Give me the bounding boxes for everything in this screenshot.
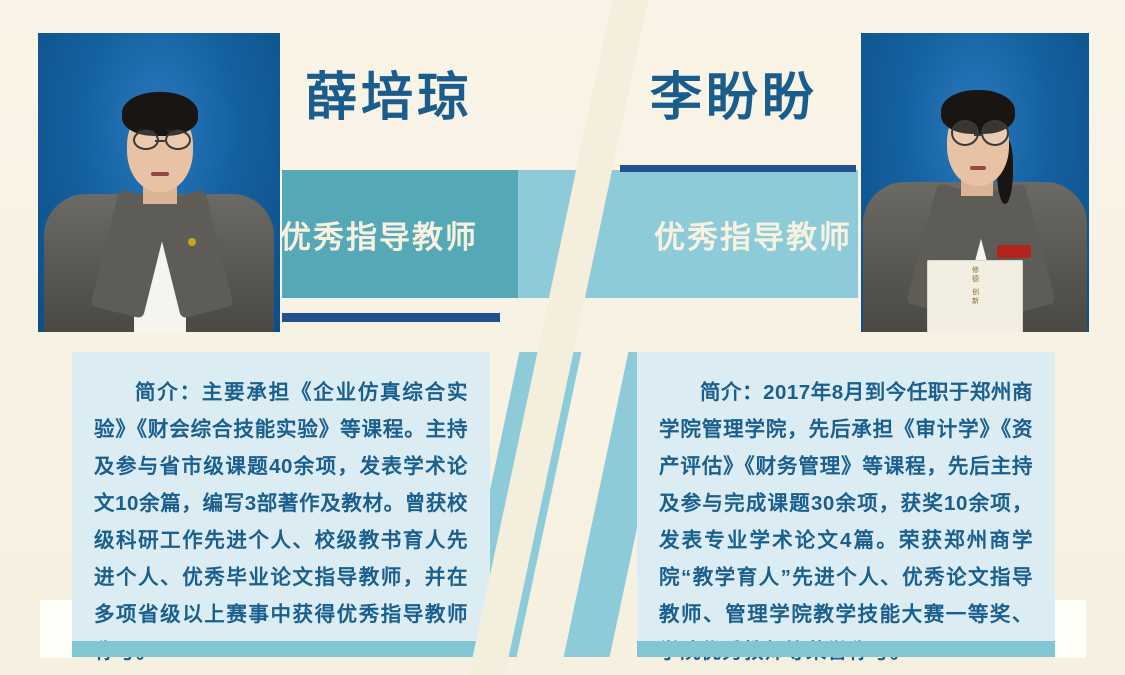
bio-text-right: 简介：2017年8月到今任职于郑州商学院管理学院，先后承担《审计学》《资产评估》…: [637, 352, 1055, 670]
bio-card-footer-left: [72, 641, 490, 657]
bio-card-right: 简介：2017年8月到今任职于郑州商学院管理学院，先后承担《审计学》《资产评估》…: [637, 352, 1055, 657]
teacher-photo-right: 修德 创新: [861, 33, 1089, 332]
teacher-photo-left: [38, 33, 280, 332]
honor-banner-underline-left: [282, 313, 500, 322]
honor-label-right: 优秀指导教师: [654, 212, 852, 257]
glasses-icon: [951, 120, 979, 146]
honor-label-left: 优秀指导教师: [280, 212, 478, 257]
corner-notch-right: [1054, 600, 1086, 658]
bio-card-left: 简介：主要承担《企业仿真综合实验》《财会综合技能实验》等课程。主持及参与省市级课…: [72, 352, 490, 657]
person-figure-left: [38, 33, 280, 332]
teacher-name-left: 薛培琼: [305, 72, 473, 124]
name-badge: [997, 245, 1031, 258]
corner-notch-left: [40, 600, 74, 658]
teacher-name-right: 李盼盼: [650, 72, 818, 124]
honor-banner-right: 优秀指导教师: [590, 170, 858, 298]
bio-card-footer-right: [637, 641, 1055, 657]
bio-text-left: 简介：主要承担《企业仿真综合实验》《财会综合技能实验》等课程。主持及参与省市级课…: [72, 352, 490, 670]
honor-banner-left: 优秀指导教师: [282, 170, 518, 298]
poster-stage: 修德 创新 薛培琼 李盼盼 优秀指导教师 优秀指导教师 简介：主要承担《企业仿真…: [0, 0, 1125, 675]
person-figure-right: 修德 创新: [861, 33, 1089, 332]
certificate: 修德 创新: [927, 260, 1023, 332]
name-underline-right: [620, 165, 856, 172]
glasses-icon: [981, 120, 1009, 146]
glasses-icon: [165, 130, 191, 150]
